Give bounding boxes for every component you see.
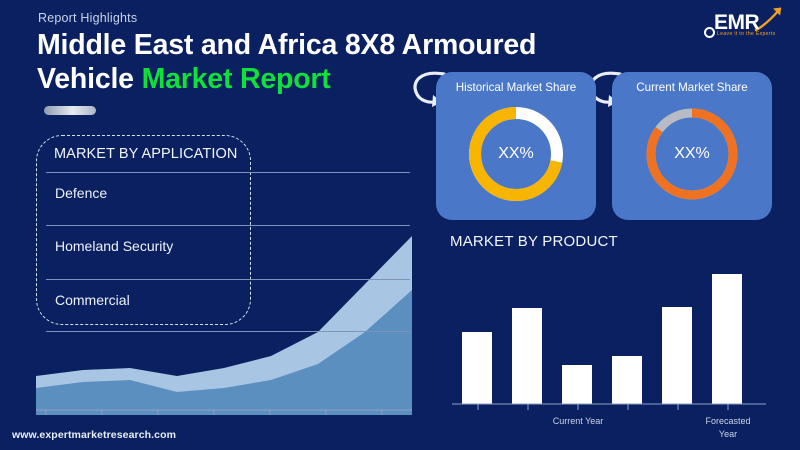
bar-6 <box>712 274 742 404</box>
report-highlights-slide: Report Highlights Middle East and Africa… <box>0 0 800 450</box>
bar-1 <box>462 332 492 404</box>
bar-2 <box>512 308 542 404</box>
market-by-product-bar-chart: Current Year Forecasted Year <box>440 262 790 444</box>
bar-5 <box>662 307 692 404</box>
bar-tick-label-forecasted-line2: Year <box>719 429 737 439</box>
historical-market-share-value: XX% <box>462 100 570 208</box>
website-footer: www.expertmarketresearch.com <box>12 429 176 441</box>
page-title-accent: Market Report <box>142 63 331 95</box>
bar-tick-label-forecasted: Forecasted <box>705 416 750 426</box>
application-divider-1 <box>46 172 410 173</box>
application-item-commercial[interactable]: Commercial <box>55 292 130 308</box>
historical-market-share-card[interactable]: Historical Market Share XX% <box>436 72 596 220</box>
current-market-share-card[interactable]: Current Market Share XX% <box>612 72 772 220</box>
application-divider-4 <box>46 331 410 332</box>
application-item-defence[interactable]: Defence <box>55 185 107 201</box>
eyebrow-label: Report Highlights <box>38 11 137 25</box>
title-underline-pill <box>44 106 96 115</box>
market-by-application-title: MARKET BY APPLICATION <box>54 146 237 162</box>
application-item-homeland-security[interactable]: Homeland Security <box>55 238 173 254</box>
current-market-share-donut: XX% <box>638 100 746 208</box>
historical-market-share-donut: XX% <box>462 100 570 208</box>
current-market-share-value: XX% <box>638 100 746 208</box>
emr-logo[interactable]: EMR Leave it to the Experts <box>692 6 788 42</box>
application-divider-3 <box>46 279 410 280</box>
bar-4 <box>612 356 642 404</box>
bar-3 <box>562 365 592 404</box>
bar-tick-label-current-year: Current Year <box>553 416 604 426</box>
emr-tagline: Leave it to the Experts <box>717 31 776 37</box>
application-divider-2 <box>46 225 410 226</box>
market-by-product-title: MARKET BY PRODUCT <box>450 233 618 250</box>
historical-market-share-title: Historical Market Share <box>436 81 596 94</box>
current-market-share-title: Current Market Share <box>612 81 772 94</box>
